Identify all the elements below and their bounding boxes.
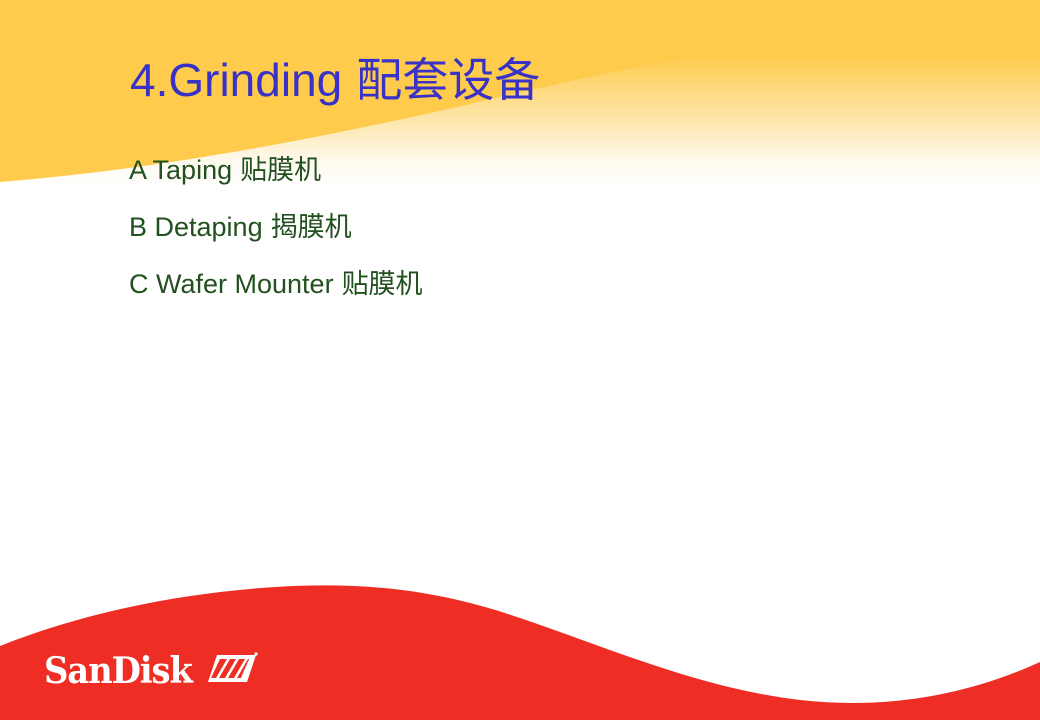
list-item-label-en: C Wafer Mounter [129, 269, 334, 299]
list-item-label-cn: 贴膜机 [334, 269, 423, 300]
page-title: 4.Grinding配套设备 [130, 55, 540, 107]
page-title-en: 4.Grinding [130, 54, 342, 106]
sandisk-wordmark: SanDisk [44, 653, 192, 689]
list-item-label-cn: 贴膜机 [232, 155, 321, 186]
list-item-label-cn: 揭膜机 [263, 212, 352, 243]
list-item-label-en: A Taping [129, 155, 232, 185]
sandisk-logo: SanDisk [44, 648, 258, 694]
slide-content: 4.Grinding配套设备 A Taping贴膜机 B Detaping揭膜机… [0, 0, 1040, 720]
bullet-list: A Taping贴膜机 B Detaping揭膜机 C Wafer Mounte… [129, 157, 959, 328]
slide-canvas: 4.Grinding配套设备 A Taping贴膜机 B Detaping揭膜机… [0, 0, 1040, 720]
page-title-cn: 配套设备 [342, 53, 540, 107]
list-item: B Detaping揭膜机 [129, 214, 959, 271]
list-item: A Taping贴膜机 [129, 157, 959, 214]
sandisk-card-mark-icon [206, 651, 258, 687]
list-item: C Wafer Mounter贴膜机 [129, 271, 959, 328]
list-item-label-en: B Detaping [129, 212, 263, 242]
